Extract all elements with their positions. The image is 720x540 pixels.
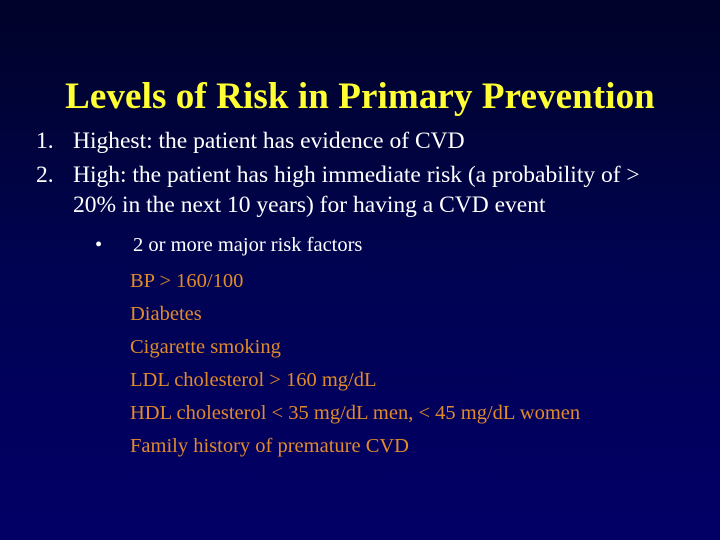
risk-factor-item: BP > 160/100: [0, 265, 720, 298]
numbered-item-1-text: Highest: the patient has evidence of CVD: [73, 126, 678, 156]
risk-factor-list: BP > 160/100 Diabetes Cigarette smoking …: [0, 265, 720, 463]
slide-body: 1. Highest: the patient has evidence of …: [0, 126, 720, 463]
numbered-list-item-1: 1. Highest: the patient has evidence of …: [0, 126, 720, 156]
bullet-list-item: • 2 or more major risk factors: [0, 231, 720, 259]
presentation-slide: Levels of Risk in Primary Prevention 1. …: [0, 0, 720, 540]
risk-factor-item: Cigarette smoking: [0, 331, 720, 364]
bullet-item-text: 2 or more major risk factors: [133, 234, 362, 256]
risk-factor-item: Family history of premature CVD: [0, 430, 720, 463]
risk-factor-item: LDL cholesterol > 160 mg/dL: [0, 364, 720, 397]
risk-factor-item: Diabetes: [0, 298, 720, 331]
list-marker-1: 1.: [36, 126, 66, 156]
slide-title: Levels of Risk in Primary Prevention: [0, 75, 720, 119]
bullet-point-icon: •: [95, 231, 102, 259]
list-marker-2: 2.: [36, 160, 66, 190]
numbered-list-item-2: 2. High: the patient has high immediate …: [0, 160, 720, 220]
numbered-item-2-text: High: the patient has high immediate ris…: [73, 160, 678, 220]
risk-factor-item: HDL cholesterol < 35 mg/dL men, < 45 mg/…: [0, 397, 720, 430]
